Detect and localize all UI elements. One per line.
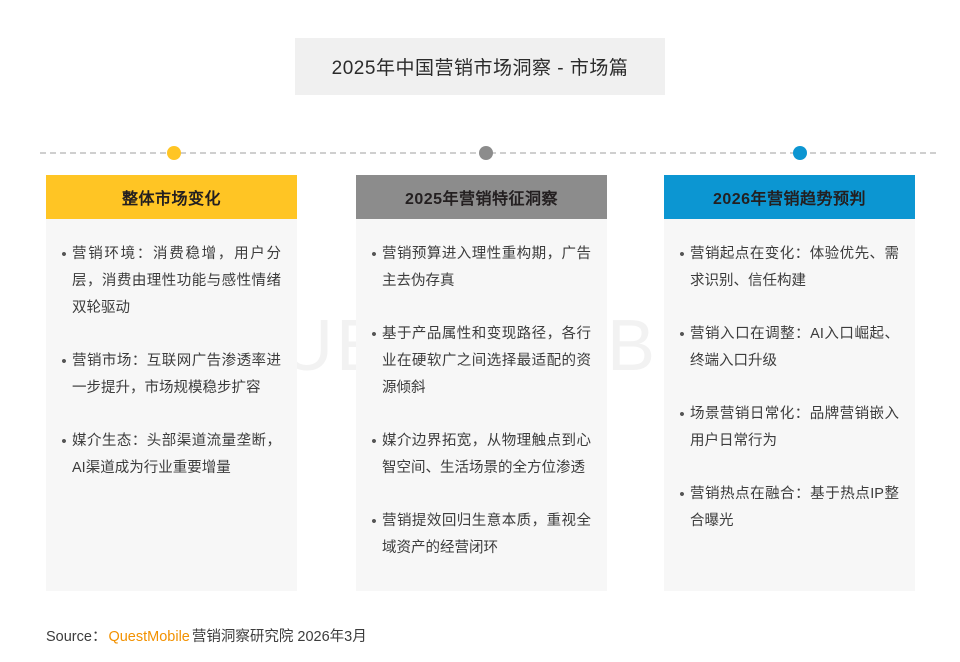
list-item: •媒介生态：头部渠道流量垄断，AI渠道成为行业重要增量 <box>56 428 281 482</box>
card-2026-marketing-trends: 2026年营销趋势预判 •营销起点在变化：体验优先、需求识别、信任构建•营销入口… <box>664 175 915 591</box>
bullet-icon: • <box>56 241 72 322</box>
source-detail: 营销洞察研究院 2026年3月 <box>192 629 367 645</box>
source-footer: Source：QuestMobile营销洞察研究院 2026年3月 <box>46 625 367 646</box>
list-item: •营销预算进入理性重构期，广告主去伪存真 <box>366 241 591 295</box>
card-body-0: •营销环境：消费稳增，用户分层，消费由理性功能与感性情绪双轮驱动•营销市场：互联… <box>46 219 297 591</box>
timeline-node-gray <box>479 146 493 160</box>
list-item: •营销起点在变化：体验优先、需求识别、信任构建 <box>674 241 899 295</box>
card-body-2: •营销起点在变化：体验优先、需求识别、信任构建•营销入口在调整：AI入口崛起、终… <box>664 219 915 591</box>
list-item-text: 营销起点在变化：体验优先、需求识别、信任构建 <box>690 241 899 295</box>
list-item: •营销环境：消费稳增，用户分层，消费由理性功能与感性情绪双轮驱动 <box>56 241 281 322</box>
card-2025-marketing-traits: 2025年营销特征洞察 •营销预算进入理性重构期，广告主去伪存真•基于产品属性和… <box>356 175 607 591</box>
list-item: •基于产品属性和变现路径，各行业在硬软广之间选择最适配的资源倾斜 <box>366 321 591 402</box>
list-item: •媒介边界拓宽，从物理触点到心智空间、生活场景的全方位渗透 <box>366 428 591 482</box>
card-header-0: 整体市场变化 <box>46 175 297 219</box>
list-item-text: 营销入口在调整：AI入口崛起、终端入口升级 <box>690 321 899 375</box>
list-item-text: 基于产品属性和变现路径，各行业在硬软广之间选择最适配的资源倾斜 <box>382 321 591 402</box>
bullet-icon: • <box>56 348 72 402</box>
list-item-text: 营销预算进入理性重构期，广告主去伪存真 <box>382 241 591 295</box>
list-item-text: 媒介边界拓宽，从物理触点到心智空间、生活场景的全方位渗透 <box>382 428 591 482</box>
list-item-text: 营销市场：互联网广告渗透率进一步提升，市场规模稳步扩容 <box>72 348 281 402</box>
card-header-1: 2025年营销特征洞察 <box>356 175 607 219</box>
timeline <box>40 152 936 154</box>
timeline-node-yellow <box>167 146 181 160</box>
list-item: •营销热点在融合：基于热点IP整合曝光 <box>674 481 899 535</box>
list-item: •营销入口在调整：AI入口崛起、终端入口升级 <box>674 321 899 375</box>
source-brand: QuestMobile <box>106 629 191 645</box>
list-item-text: 营销热点在融合：基于热点IP整合曝光 <box>690 481 899 535</box>
bullet-icon: • <box>366 241 382 295</box>
bullet-icon: • <box>56 428 72 482</box>
card-overall-market-change: 整体市场变化 •营销环境：消费稳增，用户分层，消费由理性功能与感性情绪双轮驱动•… <box>46 175 297 591</box>
list-item-text: 营销环境：消费稳增，用户分层，消费由理性功能与感性情绪双轮驱动 <box>72 241 281 322</box>
bullet-icon: • <box>366 321 382 402</box>
list-item-text: 媒介生态：头部渠道流量垄断，AI渠道成为行业重要增量 <box>72 428 281 482</box>
card-body-1: •营销预算进入理性重构期，广告主去伪存真•基于产品属性和变现路径，各行业在硬软广… <box>356 219 607 591</box>
bullet-icon: • <box>674 481 690 535</box>
bullet-icon: • <box>674 321 690 375</box>
list-item-text: 场景营销日常化：品牌营销嵌入用户日常行为 <box>690 401 899 455</box>
card-title-1: 2025年营销特征洞察 <box>405 185 558 209</box>
bullet-icon: • <box>674 401 690 455</box>
list-item: •营销提效回归生意本质，重视全域资产的经营闭环 <box>366 508 591 562</box>
bullet-icon: • <box>366 508 382 562</box>
page-title-band: 2025年中国营销市场洞察 - 市场篇 <box>295 38 665 95</box>
list-item-text: 营销提效回归生意本质，重视全域资产的经营闭环 <box>382 508 591 562</box>
card-header-2: 2026年营销趋势预判 <box>664 175 915 219</box>
bullet-icon: • <box>366 428 382 482</box>
bullet-icon: • <box>674 241 690 295</box>
card-title-0: 整体市场变化 <box>122 185 221 209</box>
source-label: Source： <box>46 629 106 645</box>
page-title: 2025年中国营销市场洞察 - 市场篇 <box>332 53 629 80</box>
list-item: •营销市场：互联网广告渗透率进一步提升，市场规模稳步扩容 <box>56 348 281 402</box>
card-title-2: 2026年营销趋势预判 <box>713 185 866 209</box>
list-item: •场景营销日常化：品牌营销嵌入用户日常行为 <box>674 401 899 455</box>
timeline-node-blue <box>793 146 807 160</box>
